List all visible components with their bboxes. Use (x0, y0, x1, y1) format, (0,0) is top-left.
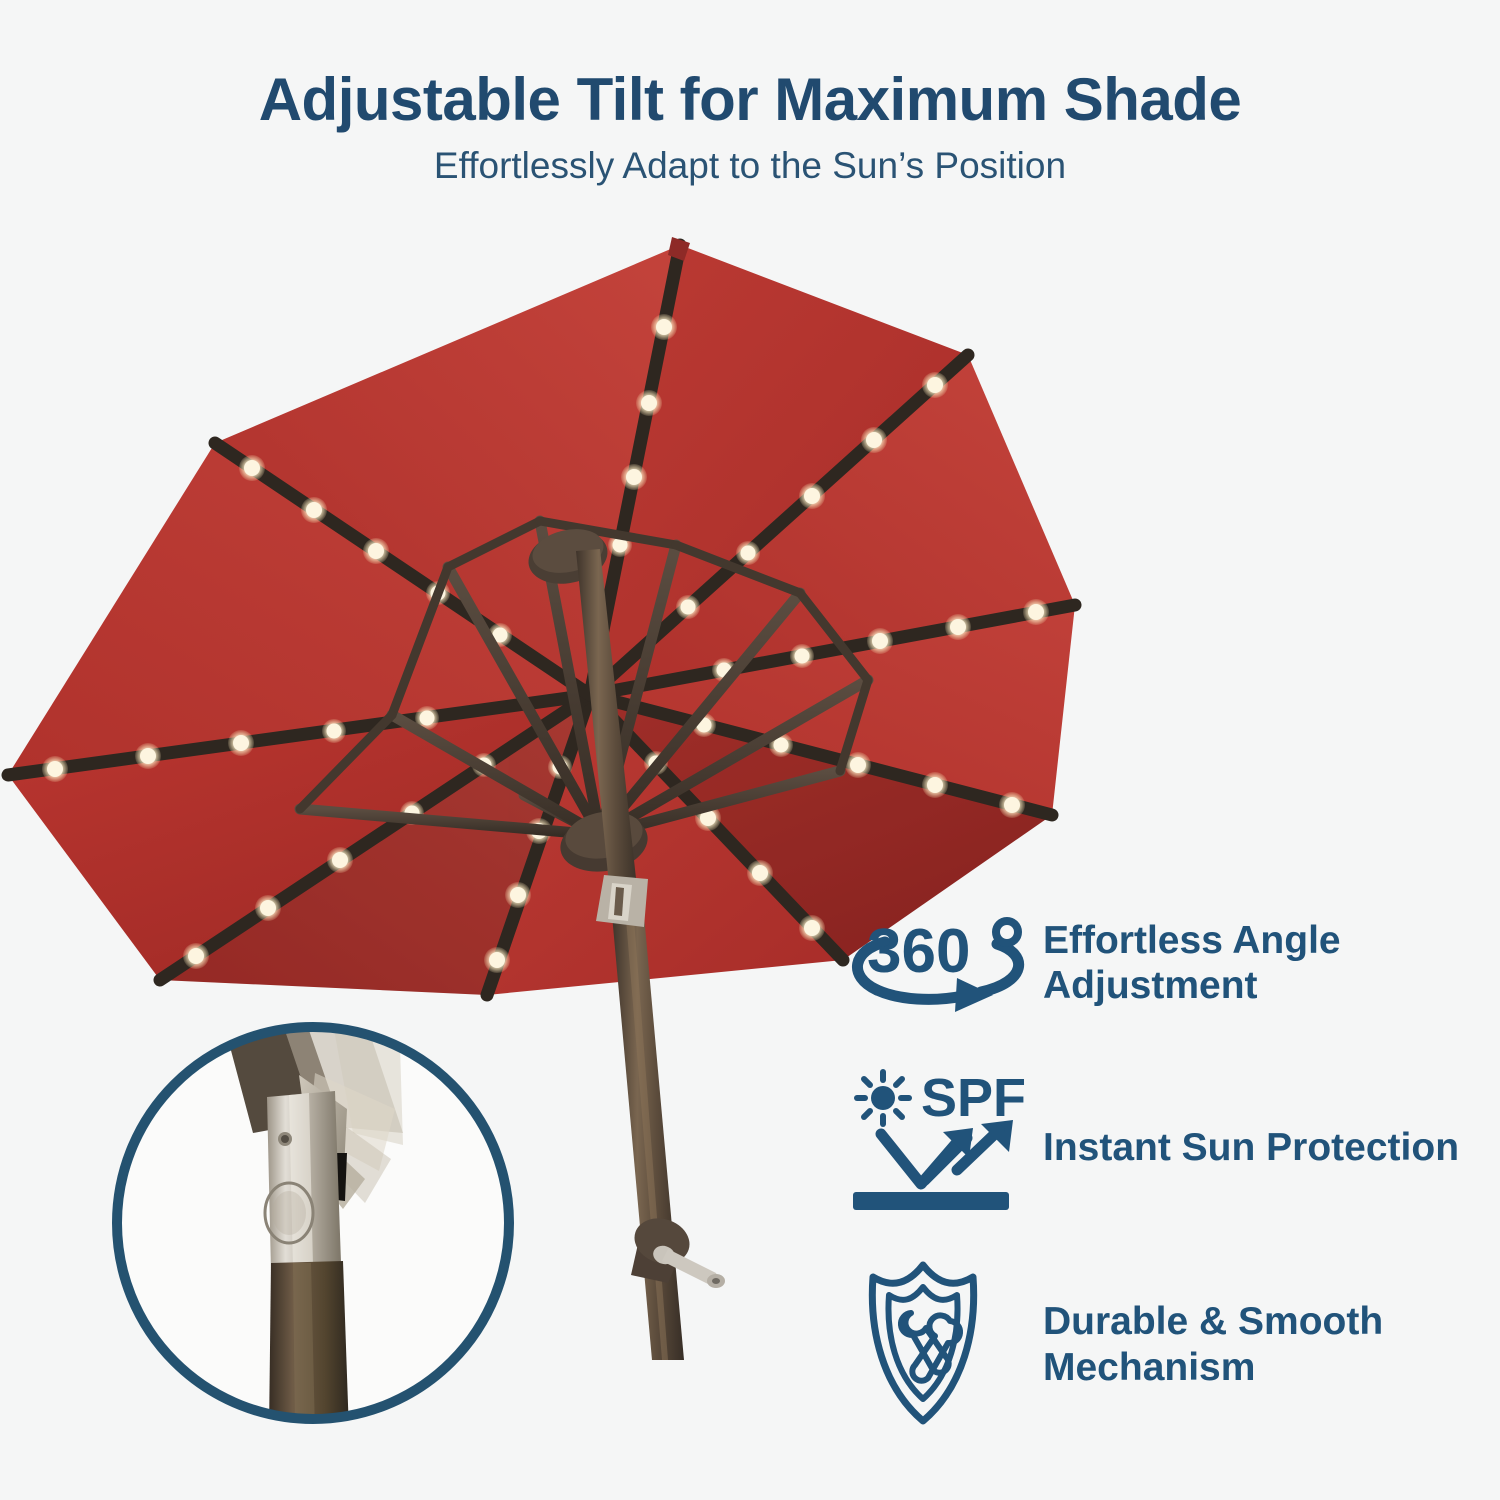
shield-wrench-icon (845, 1257, 1041, 1432)
tilt-mechanism-inset (103, 1013, 523, 1433)
page-subtitle: Effortlessly Adapt to the Sun’s Position (0, 146, 1500, 187)
360-degree-rotation-icon: 360 (845, 903, 1041, 1023)
surface-bar (853, 1192, 1009, 1210)
infographic-canvas: Adjustable Tilt for Maximum Shade Effort… (0, 0, 1500, 1500)
feature-label-line2: Adjustment (1043, 963, 1393, 1008)
feature-item-durable-mechanism: Durable & Smooth Mechanism (845, 1252, 1485, 1437)
feature-label-durable-mechanism: Durable & Smooth Mechanism (1041, 1299, 1423, 1389)
feature-label-line1: Durable & Smooth (1043, 1299, 1423, 1344)
crank-mechanism (629, 1211, 725, 1288)
feature-label-line2: Mechanism (1043, 1345, 1423, 1390)
header-block: Adjustable Tilt for Maximum Shade Effort… (0, 68, 1500, 186)
feature-list: 360 Effortless Angle Adjustment (845, 888, 1485, 1437)
spf-label: SPF (921, 1068, 1026, 1128)
feature-label-angle-adjustment: Effortless Angle Adjustment (1041, 918, 1393, 1008)
sun-icon (857, 1072, 909, 1124)
page-title: Adjustable Tilt for Maximum Shade (0, 68, 1500, 132)
360-label: 360 (867, 917, 970, 986)
feature-label-line1: Effortless Angle (1043, 918, 1393, 963)
tilt-collar (596, 875, 648, 927)
feature-item-sun-protection: SPF Instant Sun Protection (845, 1062, 1485, 1234)
spf-sun-protection-icon: SPF (845, 1068, 1041, 1228)
inset-photo-content (103, 1013, 523, 1433)
feature-label-line1: Instant Sun Protection (1043, 1125, 1485, 1170)
feature-label-sun-protection: Instant Sun Protection (1041, 1125, 1485, 1170)
feature-item-angle-adjustment: 360 Effortless Angle Adjustment (845, 888, 1485, 1038)
